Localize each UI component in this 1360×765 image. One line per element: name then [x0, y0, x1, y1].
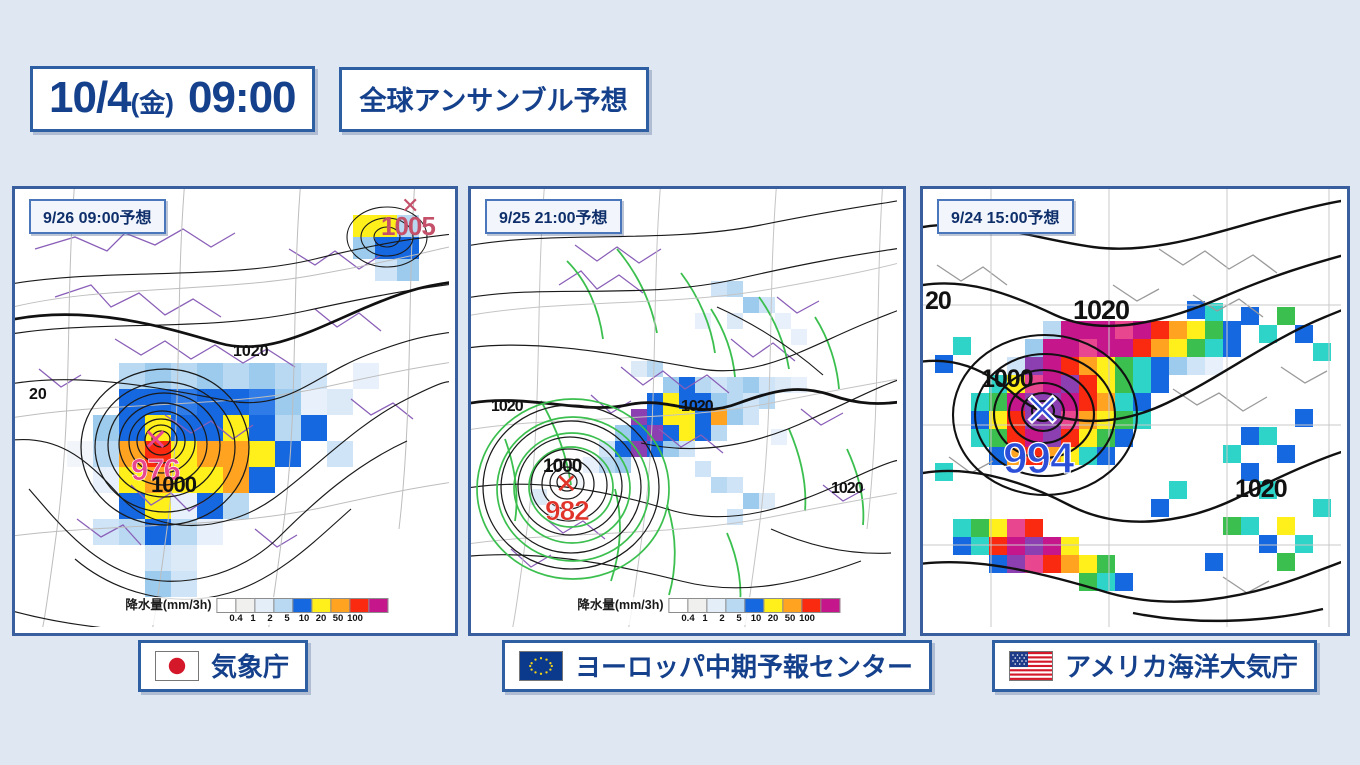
- storm-center-pressure-982: 982: [545, 497, 589, 525]
- contour-label-1000: 1000: [543, 457, 581, 476]
- forecast-time: 09:00: [188, 73, 296, 123]
- forecast-panels-row: ✕ 976 1000 ✕ 1005 1020 20 9/26 09:00予想 降…: [0, 186, 1360, 636]
- forecast-panel-ecmwf[interactable]: ✕ 982 1000 1020 1020 1020 9/25 21:00予想 降…: [468, 186, 906, 636]
- panel-forecast-time-ecmwf: 9/25 21:00予想: [485, 199, 622, 234]
- legend-tick: 2: [714, 613, 731, 624]
- forecast-panel-jma[interactable]: ✕ 976 1000 ✕ 1005 1020 20 9/26 09:00予想 降…: [12, 186, 458, 636]
- legend-tick: 20: [765, 613, 782, 624]
- contour-label-1020-center: 1020: [681, 399, 713, 415]
- legend-title: 降水量(mm/3h): [577, 598, 663, 613]
- contour-label-1020-right: 1020: [831, 481, 863, 497]
- legend-tick-labels: 0.4 1 2 5 10 20 50 100: [228, 613, 388, 624]
- agency-name: ヨーロッパ中期予報センター: [575, 647, 913, 684]
- legend-tick: 0.4: [680, 613, 697, 624]
- precipitation-legend-ecmwf: 降水量(mm/3h) 0.4 1 2 5 10 20 50 100: [574, 597, 842, 625]
- legend-tick: 0.4: [228, 613, 245, 624]
- forecast-panel-noaa[interactable]: ✕ 994 1000 1020 20 1020 9/24 15:00予想: [920, 186, 1350, 636]
- legend-tick: 50: [782, 613, 799, 624]
- legend-tick: 1: [697, 613, 714, 624]
- forecast-type-box: 全球アンサンブル予想: [339, 67, 649, 132]
- agency-name: 気象庁: [211, 647, 289, 684]
- contour-label-1020-left: 1020: [491, 399, 523, 415]
- storm-center-pressure-994: 994: [1003, 437, 1073, 481]
- agency-labels-row: 気象庁 ヨーロッパ中期予報センター: [0, 640, 1360, 700]
- agency-label-ecmwf[interactable]: ヨーロッパ中期予報センター: [502, 640, 932, 692]
- legend-tick: 50: [330, 613, 347, 624]
- legend-tick: 5: [279, 613, 296, 624]
- contour-label-1020-top: 1020: [1073, 297, 1129, 324]
- contour-label-1020-clipped: 20: [29, 387, 47, 403]
- forecast-date: 10/4: [49, 75, 131, 121]
- agency-name: アメリカ海洋大気庁: [1065, 647, 1298, 684]
- legend-tick: 100: [347, 613, 364, 624]
- weather-map-jma[interactable]: ✕ 976 1000 ✕ 1005 1020 20: [15, 189, 455, 633]
- weather-map-ecmwf[interactable]: ✕ 982 1000 1020 1020 1020: [471, 189, 903, 633]
- secondary-low-pressure-1005: 1005: [381, 213, 435, 239]
- contour-label-20-left: 20: [925, 289, 951, 314]
- forecast-day-of-week: (金): [131, 83, 174, 120]
- legend-tick: 10: [748, 613, 765, 624]
- legend-tick: 2: [262, 613, 279, 624]
- panel-forecast-time-jma: 9/26 09:00予想: [29, 199, 166, 234]
- usa-flag-icon: [1009, 651, 1053, 681]
- contour-label-1000: 1000: [151, 474, 196, 496]
- legend-tick: 10: [296, 613, 313, 624]
- contour-label-1000: 1000: [981, 367, 1033, 392]
- agency-label-jma[interactable]: 気象庁: [138, 640, 308, 692]
- legend-tick-labels: 0.4 1 2 5 10 20 50 100: [680, 613, 840, 624]
- japan-flag-icon: [155, 651, 199, 681]
- agency-label-noaa[interactable]: アメリカ海洋大気庁: [992, 640, 1317, 692]
- weather-map-noaa[interactable]: ✕ 994 1000 1020 20 1020: [923, 189, 1347, 633]
- legend-color-swatches: [669, 598, 840, 613]
- forecast-datetime-box: 10/4 (金) 09:00: [30, 66, 315, 132]
- legend-tick: 1: [245, 613, 262, 624]
- legend-tick: 5: [731, 613, 748, 624]
- storm-center-x-marker: ✕: [1023, 387, 1062, 433]
- precipitation-legend-jma: 降水量(mm/3h) 0.4 1 2 5 10 20 50 100: [122, 597, 390, 625]
- contour-label-1020: 1020: [233, 344, 269, 360]
- contour-label-1020-right: 1020: [1235, 477, 1287, 502]
- forecast-type-label: 全球アンサンブル予想: [360, 86, 628, 116]
- legend-tick: 20: [313, 613, 330, 624]
- legend-title: 降水量(mm/3h): [125, 598, 211, 613]
- panel-forecast-time-noaa: 9/24 15:00予想: [937, 199, 1074, 234]
- header-bar: 10/4 (金) 09:00 全球アンサンブル予想: [30, 66, 649, 132]
- legend-tick: 100: [799, 613, 816, 624]
- eu-flag-icon: [519, 651, 563, 681]
- legend-color-swatches: [217, 598, 388, 613]
